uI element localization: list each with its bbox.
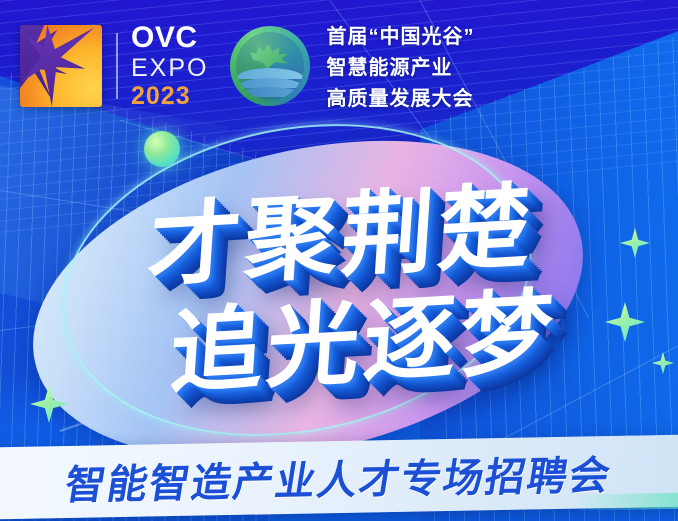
ovc-label: OVC	[131, 23, 208, 53]
orbit-sphere	[144, 131, 180, 167]
conference-title-line-1: 首届“中国光谷”	[326, 20, 474, 49]
green-circle-wave-bird-logo	[230, 26, 310, 106]
conference-title: 首届“中国光谷” 智慧能源产业 高质量发展大会	[326, 20, 474, 111]
header-divider	[116, 33, 118, 99]
bird-icon	[250, 42, 289, 71]
ovc-expo-wordmark: OVC EXPO 2023	[131, 23, 208, 109]
ovc-expo-logo-mark	[20, 25, 102, 107]
banner-title: 智能智造产业人才专场招聘会	[61, 443, 616, 511]
promotional-poster: OVC EXPO 2023 首届“中国光谷” 智慧能源产业 高质量发展大会 才聚…	[0, 0, 678, 521]
conference-title-line-3: 高质量发展大会	[326, 82, 474, 111]
wave-icon-3	[236, 87, 304, 97]
poster-header: OVC EXPO 2023 首届“中国光谷” 智慧能源产业 高质量发展大会	[0, 0, 678, 118]
conference-title-line-2: 智慧能源产业	[326, 51, 474, 80]
expo-label: EXPO	[131, 56, 208, 81]
bottom-banner: 智能智造产业人才专场招聘会	[0, 435, 678, 520]
banner-accent-stripe	[572, 493, 678, 511]
year-label: 2023	[131, 84, 208, 109]
